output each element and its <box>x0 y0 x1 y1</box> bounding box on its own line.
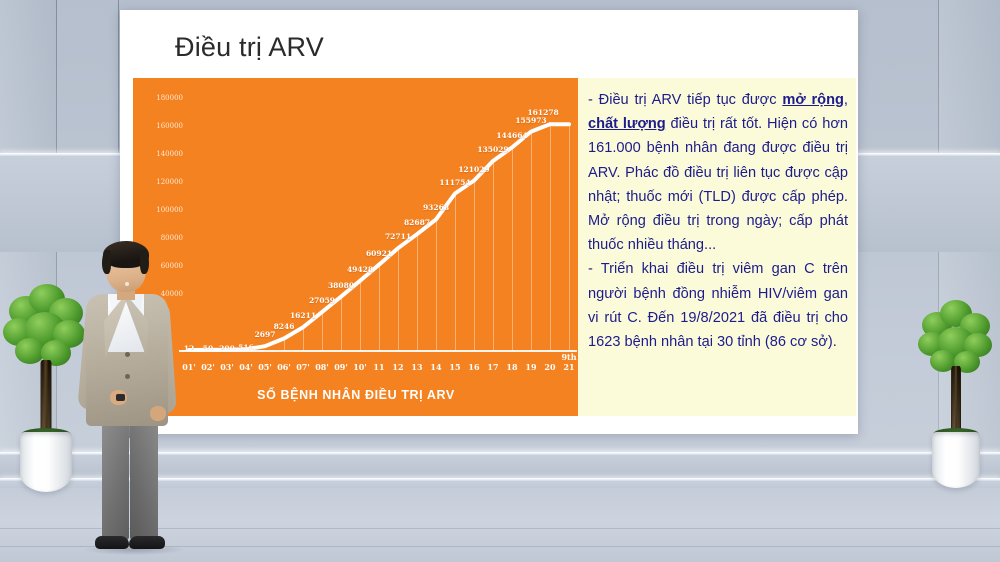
plant-right-trunk <box>951 366 961 434</box>
chart-x-tick: 11 <box>373 362 384 372</box>
presenter-hand-right <box>150 406 166 421</box>
presentation-slide: Điều trị ARV 180000160000140000120000100… <box>120 10 858 434</box>
chart-x-tick: 07' <box>296 362 310 372</box>
chart-plot-area: 1250200516269782461621127059380804942860… <box>185 84 573 350</box>
notes-panel: - Điều trị ARV tiếp tục được mở rộng, ch… <box>578 78 856 416</box>
chart-x-tick: 17 <box>487 362 498 372</box>
chart-y-tick: 180000 <box>137 94 183 102</box>
chart-data-label: 27059 <box>309 296 335 305</box>
notes-text-b: , <box>844 92 848 108</box>
presenter-leg-left <box>102 422 129 540</box>
slide-title: Điều trị ARV <box>175 32 324 63</box>
chart-x-tick: 10' <box>353 362 367 372</box>
chart-x-tick: 18 <box>506 362 517 372</box>
chart-x-tick: 20 <box>544 362 555 372</box>
chart-x-tick: 9th21 <box>561 352 576 372</box>
chart-data-label: 49428 <box>347 265 373 274</box>
chart-x-tick: 16 <box>468 362 479 372</box>
chart-y-tick: 140000 <box>137 150 183 158</box>
chart-data-label: 111754 <box>439 178 470 187</box>
chart-data-label: 8246 <box>274 322 295 331</box>
presenter-shoe-left <box>95 536 129 549</box>
notes-highlight-mo-rong: mở rộng <box>782 92 844 108</box>
notes-paragraph-1: - Điều trị ARV tiếp tục được mở rộng, ch… <box>588 88 848 257</box>
presenter-leg-right <box>130 422 158 540</box>
chart-x-tick: 08' <box>315 362 329 372</box>
chart-x-tick: 15 <box>449 362 460 372</box>
chart-data-label: 82687 <box>404 218 430 227</box>
presenter-shoe-right <box>129 536 165 549</box>
presenter-hair-side-right <box>140 250 149 274</box>
presenter-jacket-button-1 <box>125 352 130 357</box>
presenter <box>78 244 190 562</box>
chart-x-axis-line <box>179 350 577 352</box>
chart-data-label: 144664 <box>496 131 527 140</box>
chart-x-tick: 12 <box>392 362 403 372</box>
chart-data-label: 121029 <box>458 165 489 174</box>
chart-data-label: 72711 <box>385 232 411 241</box>
notes-highlight-chat-luong: chất lượng <box>588 116 666 132</box>
plant-right <box>916 300 996 494</box>
presenter-microphone <box>125 282 129 286</box>
notes-paragraph-2: - Triển khai điều trị viêm gan C trên ng… <box>588 257 848 354</box>
chart-data-label: 60921 <box>366 249 392 258</box>
plant-left-trunk <box>41 360 52 434</box>
chart-x-tick: 09' <box>334 362 348 372</box>
presenter-jacket-button-2 <box>125 374 130 379</box>
chart-x-tick: 13 <box>411 362 422 372</box>
chart-data-label: 161278 <box>527 108 558 117</box>
chart-caption: SỐ BỆNH NHÂN ĐIỀU TRỊ ARV <box>133 388 579 402</box>
chart-x-tick: 19 <box>525 362 536 372</box>
chart-data-label: 93268 <box>423 203 449 212</box>
chart-data-label: 2697 <box>255 330 276 339</box>
plant-right-pot <box>932 432 980 488</box>
chart-data-label: 135029 <box>477 145 508 154</box>
chart-x-tick: 05' <box>258 362 272 372</box>
plant-left <box>2 282 90 492</box>
plant-left-pot <box>20 432 72 492</box>
chart-data-label: 16211 <box>290 311 316 320</box>
chart-y-tick: 160000 <box>137 122 183 130</box>
chart-y-tick: 80000 <box>137 234 183 242</box>
chart-x-tick: 02' <box>201 362 215 372</box>
presenter-hair-side-left <box>102 250 111 274</box>
chart-x-tick: 06' <box>277 362 291 372</box>
notes-text-c: điều trị rất tốt. Hiện có hơn 161.000 bệ… <box>588 116 848 253</box>
arv-patients-chart: 1800001600001400001200001000008000060000… <box>133 78 579 416</box>
chart-x-tick: 03' <box>220 362 234 372</box>
chart-y-tick: 120000 <box>137 178 183 186</box>
chart-data-label: 38080 <box>328 281 354 290</box>
chart-y-tick: 100000 <box>137 206 183 214</box>
chart-x-tick: 14 <box>430 362 441 372</box>
presenter-clicker <box>116 394 125 401</box>
notes-text-a: - Điều trị ARV tiếp tục được <box>588 92 782 108</box>
chart-x-tick: 04' <box>239 362 253 372</box>
